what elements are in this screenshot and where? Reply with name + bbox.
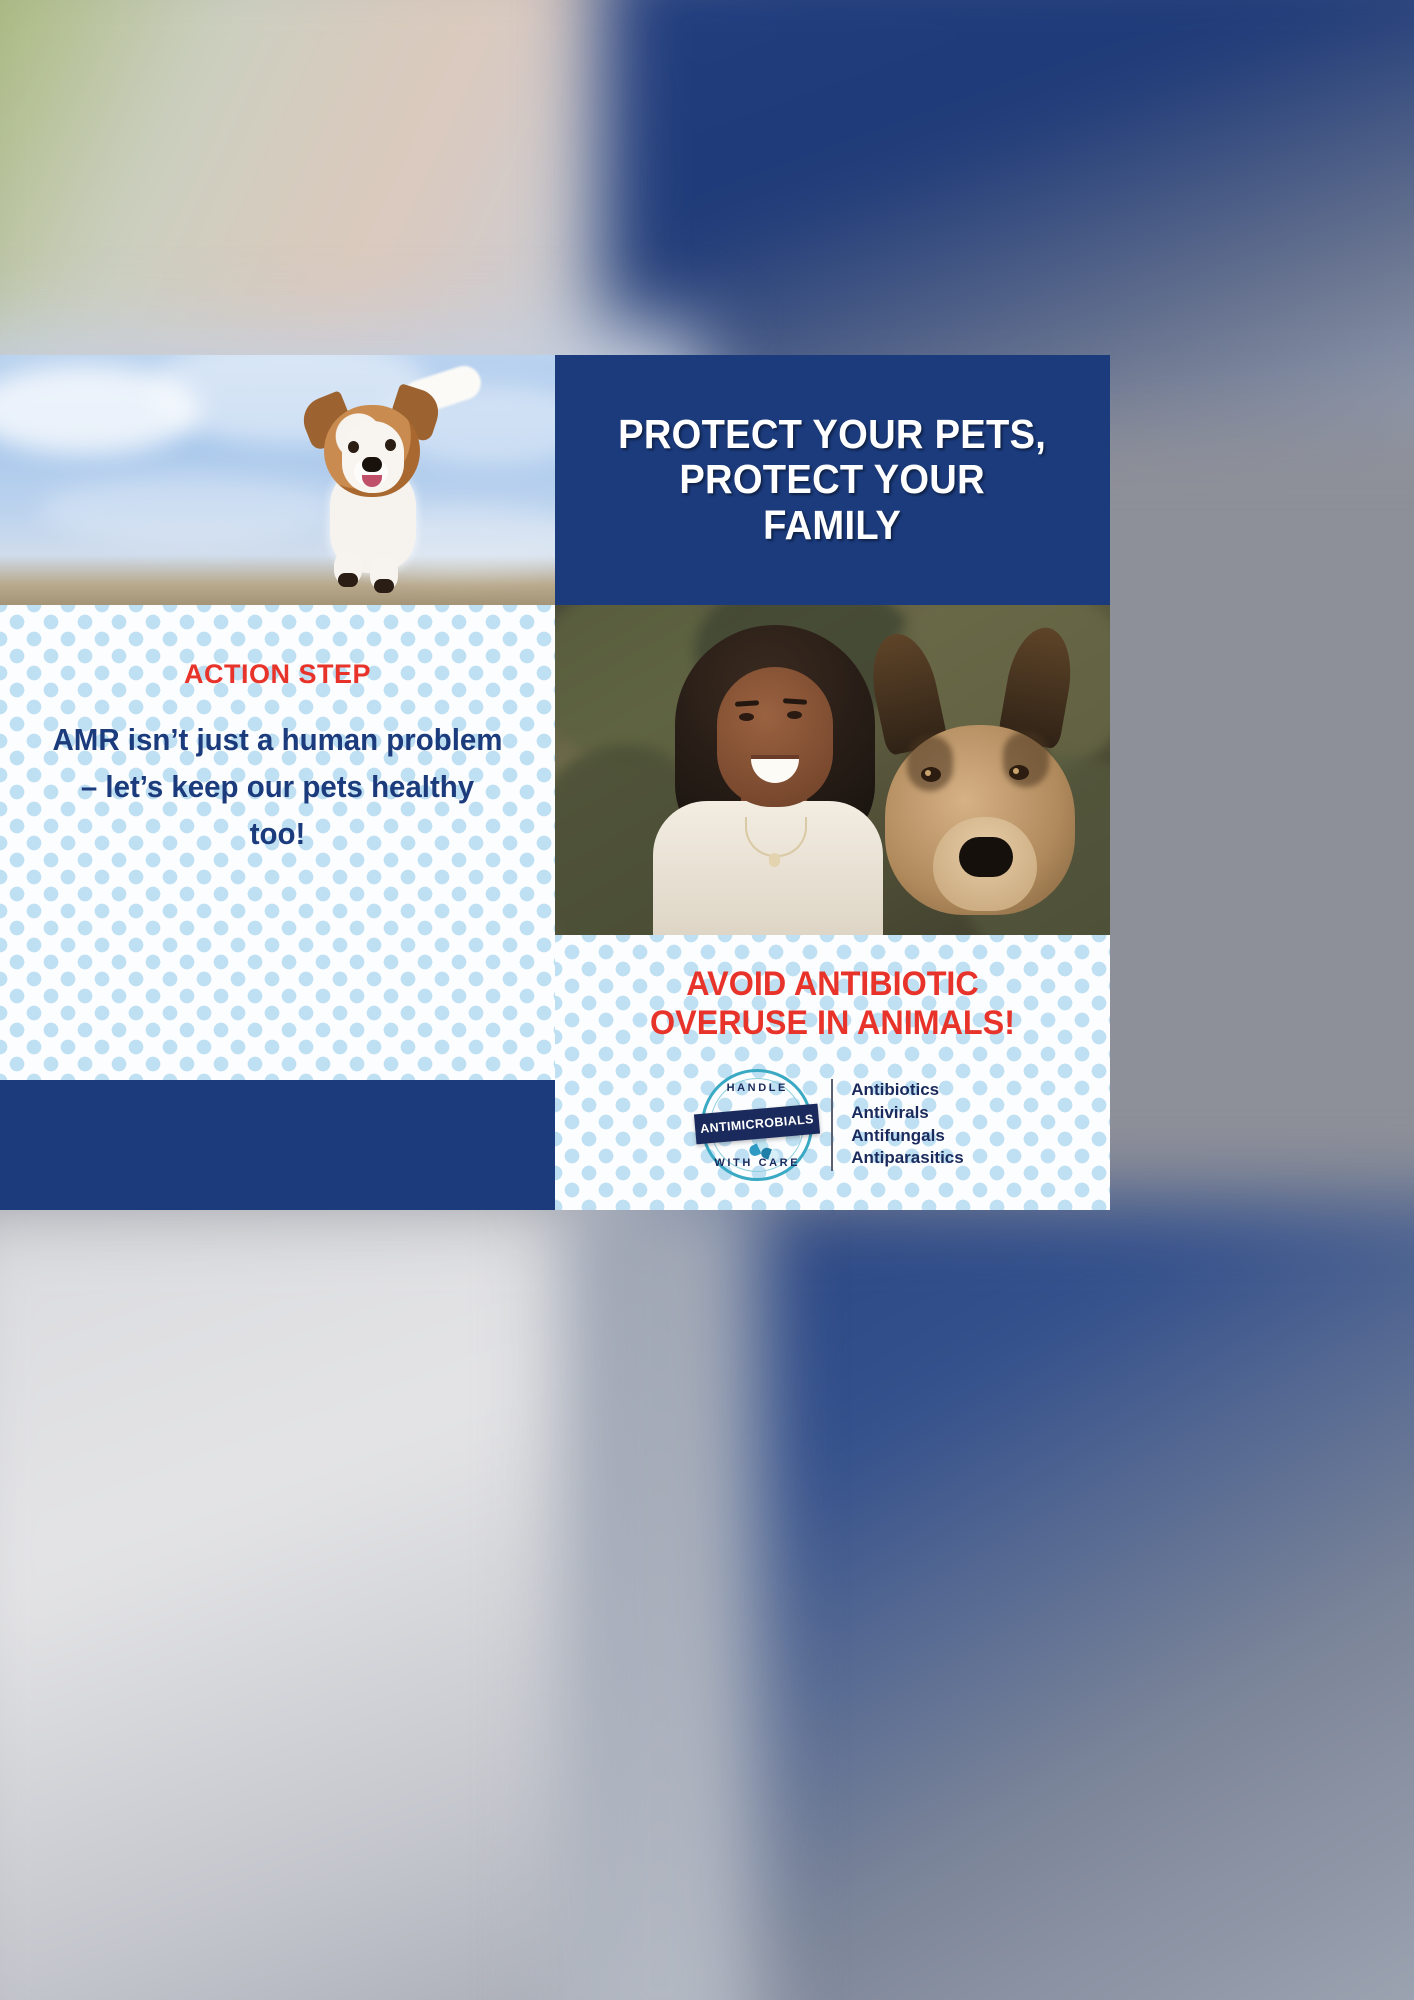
dog-eye-left bbox=[348, 441, 359, 453]
action-step-panel: ACTION STEP AMR isn’t just a human probl… bbox=[0, 605, 555, 1080]
seal-bottom-text: WITH CARE bbox=[701, 1157, 813, 1169]
dog-paw-pad bbox=[338, 573, 358, 587]
backdrop-region bbox=[560, 1180, 760, 2000]
list-item: Antiparasitics bbox=[851, 1147, 963, 1170]
poster-artboard: PROTECT YOUR PETS, PROTECT YOUR FAMILY A… bbox=[0, 355, 1110, 1210]
dog-eye-right bbox=[385, 439, 396, 451]
avoid-antibiotic-panel: AVOID ANTIBIOTIC OVERUSE IN ANIMALS! HAN… bbox=[555, 935, 1110, 1210]
handle-with-care-seal: HANDLE WITH CARE ANTIMICROBIALS bbox=[701, 1069, 813, 1181]
dog-paw-pad bbox=[374, 579, 394, 593]
navy-footer-block bbox=[0, 1080, 555, 1210]
action-step-body: AMR isn’t just a human problem – let’s k… bbox=[50, 716, 505, 857]
dog-nose bbox=[362, 457, 382, 472]
woman-eye bbox=[739, 713, 754, 721]
vertical-divider bbox=[831, 1079, 833, 1171]
action-step-label: ACTION STEP bbox=[0, 605, 555, 690]
antimicrobial-footer: HANDLE WITH CARE ANTIMICROBIALS Antibiot… bbox=[555, 1069, 1110, 1181]
woman-eye bbox=[787, 711, 802, 719]
seal-top-text: HANDLE bbox=[701, 1082, 813, 1094]
page-title: PROTECT YOUR PETS, PROTECT YOUR FAMILY bbox=[618, 412, 1046, 547]
seal-band-text: ANTIMICROBIALS bbox=[700, 1112, 815, 1136]
dog-face-marking bbox=[1003, 731, 1049, 787]
necklace-pendant bbox=[769, 853, 780, 867]
avoid-heading: AVOID ANTIBIOTIC OVERUSE IN ANIMALS! bbox=[569, 935, 1096, 1043]
headline-banner: PROTECT YOUR PETS, PROTECT YOUR FAMILY bbox=[555, 355, 1110, 605]
list-item: Antibiotics bbox=[851, 1079, 963, 1102]
list-item: Antifungals bbox=[851, 1125, 963, 1148]
antimicrobial-list: Antibiotics Antivirals Antifungals Antip… bbox=[851, 1079, 963, 1169]
list-item: Antivirals bbox=[851, 1102, 963, 1125]
jack-russell-photo bbox=[0, 355, 555, 605]
dog-eye bbox=[921, 767, 941, 782]
dog-eye bbox=[1009, 765, 1029, 780]
dog-nose bbox=[959, 837, 1013, 877]
running-dog-illustration bbox=[282, 365, 482, 605]
dog-face-marking bbox=[907, 735, 953, 791]
woman-face bbox=[717, 667, 833, 807]
woman-with-dog-photo bbox=[555, 605, 1110, 935]
